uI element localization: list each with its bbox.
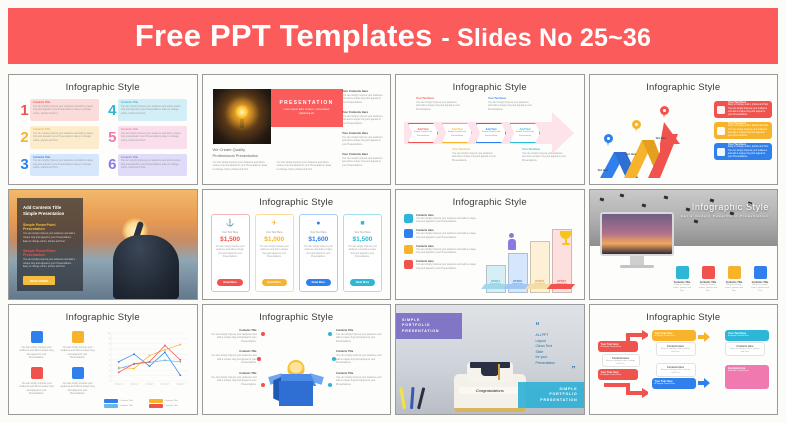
step-number: 4	[107, 99, 118, 121]
flow-node[interactable]: Your Text Here A Simple PowerPoint	[598, 369, 638, 380]
imac-foot	[620, 265, 654, 268]
caption-body: You can simply impress your audience and…	[522, 152, 566, 162]
slide-1-title: Infographic Style	[9, 82, 197, 93]
legend-label: Contents Title	[120, 400, 133, 402]
slide-thumbnail-8[interactable]: Infographic Style Get a modern PowerPoin…	[589, 189, 779, 300]
quote-block: “ ALLPPT Layout Clean Text Slide for you…	[536, 315, 576, 372]
card-body: You can simply impress your audience and…	[303, 246, 334, 276]
chat-icon: ●	[316, 220, 320, 227]
slide-thumbnail-4[interactable]: Infographic Style Text Here Text Here Te…	[589, 74, 779, 185]
person-figure-icon	[508, 233, 516, 251]
chat-icon	[754, 266, 767, 279]
imac-mockup	[600, 212, 674, 268]
caption-heading: Your Text Here	[452, 148, 496, 151]
item-heading: Contents Title	[211, 350, 257, 353]
list-item[interactable]: Your Contents Here You can simply impres…	[342, 131, 384, 146]
imac-screen	[600, 212, 674, 256]
pin-label: Text Here	[598, 169, 609, 172]
marker-dot	[328, 332, 332, 336]
legend-swatch	[149, 399, 163, 403]
slide-7-title: Infographic Style	[396, 197, 584, 208]
network-icon	[31, 331, 43, 343]
imac-neck	[630, 256, 644, 265]
arrow-right-icon	[698, 378, 710, 388]
banner-title-main: Free PPT Templates	[135, 18, 433, 53]
label-line-3: PRESENTATION	[540, 398, 577, 403]
lightbulb-photo	[213, 89, 271, 144]
pricing-card[interactable]: ■ Your Text Here $1,500 You can simply i…	[343, 214, 382, 292]
caption-heading: Your Text Here	[488, 97, 532, 100]
lead-line-2: Professional Presentation	[213, 153, 271, 159]
list-item[interactable]: 4 Contents Title You can simply impress …	[107, 99, 187, 121]
icon-body: You can simply impress your audience and…	[60, 382, 95, 396]
node-sub: A Simple PowerPoint	[601, 346, 635, 348]
feature-tiles: Contents Title Easy to change colors, ph…	[671, 266, 771, 293]
chart-legend: Contents Title Contents Title Contents T…	[104, 399, 190, 409]
step-body: You can simply impress your audience and…	[121, 132, 184, 142]
step-number: 6	[107, 154, 118, 176]
list-item[interactable]: Contents Title You can simply impress yo…	[336, 372, 382, 386]
legend-swatch	[149, 404, 163, 408]
card-subtitle: Your Text Here	[354, 231, 370, 234]
feature-tile[interactable]: Contents Title Easy to change colors, ph…	[723, 266, 745, 293]
slide-thumbnail-6[interactable]: Infographic Style ⚓ Your Text Here $1,50…	[202, 189, 392, 300]
step-number: 1	[19, 99, 30, 121]
node-sub: A Simple PowerPoint	[655, 383, 693, 385]
list-item[interactable]: Your Contents Here You can simply impres…	[342, 89, 384, 104]
clock-icon	[702, 266, 715, 279]
slide-6-title: Infographic Style	[203, 197, 391, 208]
quote-open-icon: “	[536, 321, 540, 330]
pricing-card[interactable]: ⚓ Your Text Here $1,500 You can simply i…	[211, 214, 250, 292]
slide-8-title: Infographic Style	[681, 202, 769, 212]
pricing-card[interactable]: ✈ Your Text Here $1,000 You can simply i…	[255, 214, 294, 292]
list-item[interactable]: 5 Contents Title You can simply impress …	[107, 126, 187, 148]
item-heading: Contents Title	[336, 372, 382, 375]
card-subtitle: Your Text Here	[310, 231, 326, 234]
slide-3-title: Infographic Style	[396, 82, 584, 93]
marker-dot	[261, 332, 265, 336]
slide-thumbnail-9[interactable]: Infographic Style You can simply impress…	[8, 304, 198, 415]
list-item[interactable]: Your Contents Here You can simply impres…	[342, 152, 384, 167]
rocket-icon: ✈	[271, 220, 277, 227]
slide-thumbnail-12[interactable]: Infographic Style Your Text Here A Simpl…	[589, 304, 779, 415]
callout-body: Easy to change colors, photos and Text. …	[728, 146, 769, 159]
pin-label: Text Here	[626, 153, 637, 156]
item-body: You can simply impress your audience and…	[342, 157, 384, 167]
step-blocks-graphic: STEP1 PowerPoint Presentation STEP2 Powe…	[482, 221, 578, 293]
feature-tile[interactable]: Contents Title Easy to change colors, ph…	[697, 266, 719, 293]
map-pin-icon	[660, 106, 669, 118]
item-body: You can simply impress your audience and…	[416, 232, 478, 239]
item-heading: Contents Title	[211, 329, 257, 332]
card-body: Easy to change colors, photos and Text.	[606, 360, 636, 366]
svg-text:Category 5: Category 5	[175, 383, 184, 386]
card-price: $1,600	[308, 236, 328, 243]
card-button[interactable]: Read More	[262, 279, 287, 286]
slide-thumbnail-5[interactable]: Add Contents Title Simple Presentation S…	[8, 189, 198, 300]
slide-thumbnail-1[interactable]: Infographic Style 1 Contents Title You c…	[8, 74, 198, 185]
slide-9-title: Infographic Style	[9, 312, 197, 323]
card-price: $1,500	[352, 236, 372, 243]
templates-preview-page: Free PPT Templates - Slides No 25~36 Inf…	[0, 0, 786, 423]
pencil-icon	[417, 387, 425, 409]
flow-node[interactable]: Your Text Here A Simple PowerPoint	[652, 330, 696, 341]
item-heading: Your Contents Here	[342, 152, 384, 156]
graduate-figure	[113, 235, 179, 299]
svg-text:7: 7	[108, 349, 109, 351]
chevron-steps: Add Text Simple PowerPoint Presentation …	[408, 123, 540, 143]
slide-thumbnail-3[interactable]: Infographic Style Add Text Simple PowerP…	[395, 74, 585, 185]
card-body: You can simply impress your audience and…	[215, 246, 246, 276]
legend-item: Contents Title	[104, 399, 145, 403]
svg-text:6: 6	[108, 354, 109, 356]
chevron-step[interactable]: Add Text Simple PowerPoint Presentation	[442, 123, 472, 143]
slide-thumbnail-10[interactable]: Infographic Style Contents Title You can…	[202, 304, 392, 415]
chevron-step[interactable]: Add Text Simple PowerPoint Presentation	[510, 123, 540, 143]
slide-thumbnail-7[interactable]: Infographic Style Contents Here You can …	[395, 189, 585, 300]
overlay-panel: Add Contents Title Simple Presentation S…	[17, 198, 83, 291]
flow-card[interactable]: Contents Here Easy to change colors, pho…	[725, 342, 765, 356]
step-bar: Contents Title You can simply impress yo…	[30, 154, 99, 176]
marker-dot	[257, 357, 261, 361]
presentation-panel: PRESENTATION Lorem ipsum dolor sit amet,…	[271, 89, 343, 127]
svg-text:3: 3	[108, 370, 109, 372]
icon-cell[interactable]: You can simply impress your audience and…	[60, 367, 95, 396]
section-1-heading: Simple PowerPoint Presentation	[23, 223, 77, 231]
item-heading: Contents Title	[211, 372, 257, 375]
list-item[interactable]: Contents Here You can simply impress you…	[404, 260, 478, 270]
node-sub: A Simple PowerPoint	[655, 335, 693, 337]
camera-icon: ■	[360, 220, 364, 227]
caption: Your Text Here You can simply impress yo…	[488, 97, 532, 111]
numbered-bar-list: 1 Contents Title You can simply impress …	[19, 99, 187, 176]
list-item[interactable]: Contents Title You can simply impress yo…	[336, 329, 382, 343]
pricing-card[interactable]: ● Your Text Here $1,600 You can simply i…	[299, 214, 338, 292]
step-body: You can simply impress your audience and…	[121, 159, 184, 169]
pricing-card-row: ⚓ Your Text Here $1,500 You can simply i…	[211, 214, 383, 292]
item-heading: Your Contents Here	[342, 110, 384, 114]
section-2-body: You can simply impress your audience and…	[23, 258, 77, 269]
flow-node[interactable]: Your Text Here A Simple PowerPoint	[725, 330, 769, 341]
svg-text:Category 2: Category 2	[129, 383, 138, 386]
svg-text:2: 2	[108, 375, 109, 377]
map-pin-icon	[632, 120, 641, 132]
item-body: You can simply impress your audience and…	[211, 376, 257, 386]
slide-thumbnail-11[interactable]: Congratulations SIMPLE PORTFOLIO PRESENT…	[395, 304, 585, 415]
svg-text:Category 1: Category 1	[114, 383, 123, 386]
lightbulb-icon	[234, 105, 249, 120]
step-bar: Contents Title You can simply impress yo…	[118, 126, 187, 148]
svg-text:Category 3: Category 3	[145, 383, 154, 386]
list-item[interactable]: Contents Here You can simply impress you…	[404, 229, 478, 239]
quote-close-icon: ”	[536, 367, 576, 373]
section-1-body: You can simply impress your audience and…	[23, 232, 77, 243]
item-body: You can simply impress your audience and…	[416, 263, 478, 270]
flow-card[interactable]: Contents Here Easy to change colors, pho…	[656, 363, 696, 377]
right-content-list: Your Contents Here You can simply impres…	[342, 89, 384, 173]
step-number: 3	[19, 154, 30, 176]
list-item[interactable]: 1 Contents Title You can simply impress …	[19, 99, 99, 121]
callout-body: Easy to change colors, photos and Text. …	[728, 125, 769, 138]
banner-title-group: Infographic Style Get a modern PowerPoin…	[681, 202, 769, 218]
icon-cell[interactable]: You can simply impress your audience and…	[60, 331, 95, 360]
list-item[interactable]: Contents Here You can simply impress you…	[404, 214, 478, 224]
card-subtitle: Your Text Here	[222, 231, 238, 234]
callout-body: Easy to change colors, photos and Text. …	[728, 104, 769, 117]
cap-tassel	[498, 364, 500, 380]
line-chart: 10987654321Category 1Category 2Category …	[104, 331, 190, 389]
rising-arrows-graphic	[598, 118, 688, 180]
pin-label: Text Here	[656, 137, 667, 140]
panel-title-line-2: Simple Presentation	[23, 211, 77, 217]
item-body: You can simply impress your audience and…	[416, 217, 478, 224]
card-button[interactable]: Read More	[217, 279, 242, 286]
alert-icon	[72, 331, 84, 343]
caption: Your Text Here You can simply impress yo…	[522, 148, 566, 162]
flow-card[interactable]: Contents Here Easy to change colors, pho…	[602, 354, 640, 367]
caption-body: You can simply impress your audience and…	[452, 152, 496, 162]
item-body: You can simply impress your audience and…	[342, 94, 384, 104]
step-bar: Contents Title You can simply impress yo…	[30, 126, 99, 148]
list-item[interactable]: Contents Here You can simply impress you…	[404, 245, 478, 255]
slide-grid: Infographic Style 1 Contents Title You c…	[8, 74, 778, 415]
briefcase-icon	[717, 106, 725, 114]
item-body: You can simply impress your audience and…	[211, 354, 257, 364]
list-item[interactable]: Contents Title You can simply impress yo…	[336, 350, 382, 364]
caption-heading: Your Text Here	[522, 148, 566, 151]
icon-content-list: Contents Here You can simply impress you…	[404, 214, 478, 276]
card-subtitle: Your Text Here	[266, 231, 282, 234]
callout-card[interactable]: Your Text Here Easy to change colors, ph…	[714, 122, 772, 139]
banner-title-sub: - Slides No 25~36	[441, 24, 651, 52]
tile-body: Easy to change colors, photos and Text.	[723, 284, 745, 293]
list-item[interactable]: Contents Title You can simply impress yo…	[211, 372, 257, 386]
feature-tile[interactable]: Contents Title Easy to change colors, ph…	[749, 266, 771, 293]
list-item[interactable]: 2 Contents Title You can simply impress …	[19, 126, 99, 148]
card-body: Easy to change colors, photos and Text.	[660, 369, 692, 375]
lightbulb-stem	[240, 119, 244, 128]
arrow-right-icon	[698, 332, 710, 342]
slide-12-title: Infographic Style	[590, 312, 778, 323]
presentation-panel-title: PRESENTATION	[279, 100, 333, 106]
lead-text: We Create Quality Professional Presentat…	[213, 147, 271, 159]
step-number: 5	[107, 126, 118, 148]
anchor-icon: ⚓	[226, 220, 235, 227]
svg-text:10: 10	[107, 333, 109, 335]
paragraph-1: You can simply impress your audience and…	[213, 161, 269, 171]
legend-label: Contents Title	[165, 405, 178, 407]
tile-body: Easy to change colors, photos and Text.	[671, 284, 693, 293]
svg-text:5: 5	[108, 359, 109, 361]
step-body: You can simply impress your audience and…	[33, 159, 96, 169]
icon-cell[interactable]: You can simply impress your audience and…	[19, 331, 54, 360]
callout-card[interactable]: Your Text Here Easy to change colors, ph…	[714, 143, 772, 160]
step-body: You can simply impress your audience and…	[33, 105, 96, 115]
step-bar: Contents Title You can simply impress yo…	[118, 99, 187, 121]
pens-group	[401, 383, 427, 409]
card-price: $1,000	[264, 236, 284, 243]
item-body: You can simply impress your audience and…	[342, 136, 384, 146]
list-item[interactable]: 6 Contents Title You can simply impress …	[107, 154, 187, 176]
item-body: You can simply impress your audience and…	[336, 333, 382, 343]
card-body: Easy to change colors, photos and Text.	[729, 348, 761, 354]
legend-swatch	[104, 399, 118, 403]
callout-card[interactable]: Your Text Here Easy to change colors, ph…	[714, 101, 772, 118]
tile-body: Easy to change colors, photos and Text.	[749, 284, 771, 293]
caption: Your Text Here You can simply impress yo…	[452, 148, 496, 162]
slide-thumbnail-2[interactable]: PRESENTATION Lorem ipsum dolor sit amet,…	[202, 74, 392, 185]
node-sub: A Simple PowerPoint	[728, 370, 766, 372]
item-body: You can simply impress your audience and…	[336, 376, 382, 386]
bottom-right-label: SIMPLE PORTFOLIO PRESENTATION	[518, 382, 584, 408]
item-body: You can simply impress your audience and…	[342, 115, 384, 125]
caption: Your Text Here You can simply impress yo…	[416, 97, 460, 111]
svg-text:Category 4: Category 4	[160, 383, 169, 386]
flow-node[interactable]: Your Text Here A Simple PowerPoint	[598, 341, 638, 352]
caption-heading: Your Text Here	[416, 97, 460, 100]
flow-card[interactable]: Contents Here Easy to change colors, pho…	[656, 342, 696, 356]
box-front	[279, 381, 313, 406]
slide-4-title: Infographic Style	[590, 82, 778, 93]
banner-title: Free PPT Templates - Slides No 25~36	[135, 18, 651, 54]
tile-body: Easy to change colors, photos and Text.	[697, 284, 719, 293]
marker-dot	[328, 383, 332, 387]
legend-item: Contents Title	[149, 399, 190, 403]
marker-dot	[261, 383, 265, 387]
step-body: Simple PowerPoint Presentation	[443, 131, 471, 137]
card-body: Easy to change colors, photos and Text.	[660, 348, 692, 354]
step-body: Simple PowerPoint Presentation	[409, 131, 437, 137]
item-heading: Your Contents Here	[342, 131, 384, 135]
legend-label: Contents Title	[120, 405, 133, 407]
chat-icon	[72, 367, 84, 379]
list-item[interactable]: Contents Title You can simply impress yo…	[211, 350, 257, 364]
link-icon	[404, 245, 413, 254]
step-body: You can simply impress your audience and…	[33, 132, 96, 142]
highlighter-icon	[399, 387, 406, 409]
cake-text: Congratulations	[476, 388, 504, 393]
gear-icon	[404, 214, 413, 223]
header-banner: Free PPT Templates - Slides No 25~36	[8, 8, 778, 64]
legend-swatch	[104, 404, 118, 408]
legend-item: Contents Title	[149, 404, 190, 408]
list-item[interactable]: 3 Contents Title You can simply impress …	[19, 154, 99, 176]
map-pin-icon	[604, 134, 613, 146]
icon-body: You can simply impress your audience and…	[19, 346, 54, 360]
caption-body: You can simply impress your audience and…	[416, 101, 460, 111]
marker-dot	[332, 357, 336, 361]
chevron-step[interactable]: Add Text Simple PowerPoint Presentation	[408, 123, 438, 143]
item-heading: Contents Title	[336, 350, 382, 353]
right-content-column: Contents Title You can simply impress yo…	[336, 329, 382, 393]
list-item[interactable]: Contents Title You can simply impress yo…	[211, 329, 257, 343]
scissors-icon	[404, 260, 413, 269]
card-price: $1,500	[220, 236, 240, 243]
flow-node[interactable]: Contents Here A Simple PowerPoint	[725, 365, 769, 389]
step-block[interactable]: STEP2 PowerPoint Presentation	[508, 253, 528, 293]
left-content-column: Contents Title You can simply impress yo…	[211, 329, 257, 393]
legend-label: Contents Title	[165, 400, 178, 402]
chevron-step[interactable]: Add Text Simple PowerPoint Presentation	[476, 123, 506, 143]
target-icon	[31, 367, 43, 379]
node-sub: A Simple PowerPoint	[601, 374, 635, 376]
step-block[interactable]: STEP3 PowerPoint Presentation	[530, 241, 550, 293]
graduation-cap-icon	[470, 362, 510, 368]
block-top	[546, 284, 574, 289]
paragraph-2: You can simply impress your audience and…	[277, 161, 333, 171]
step-number: 2	[19, 126, 30, 148]
graduation-cake-photo: Congratulations	[454, 354, 526, 412]
icon-body: You can simply impress your audience and…	[60, 346, 95, 360]
top-left-label: SIMPLE PORTFOLIO PRESENTATION	[396, 313, 462, 339]
arrows-svg	[598, 118, 688, 180]
icon-body: You can simply impress your audience and…	[19, 382, 54, 396]
svg-text:8: 8	[108, 343, 109, 345]
card-body: You can simply impress your audience and…	[347, 246, 378, 276]
step-body: You can simply impress your audience and…	[121, 105, 184, 115]
slide-8-subtitle: Get a modern PowerPoint Presentation	[681, 214, 769, 218]
megaphone-icon	[717, 127, 725, 135]
step-body: Simple PowerPoint Presentation	[477, 131, 505, 137]
list-icon	[728, 266, 741, 279]
item-body: You can simply impress your audience and…	[211, 333, 257, 343]
pen-icon	[410, 387, 415, 409]
card-body: You can simply impress your audience and…	[259, 246, 290, 276]
legend-item: Contents Title	[104, 404, 145, 408]
flow-node[interactable]: Your Text Here A Simple PowerPoint	[652, 378, 696, 389]
step-bar: Contents Title You can simply impress yo…	[30, 99, 99, 121]
node-sub: A Simple PowerPoint	[728, 335, 766, 337]
section-2-heading: Simple PowerPoint Presentation	[23, 249, 77, 257]
document-icon	[404, 229, 413, 238]
card-button[interactable]: Read More	[306, 279, 331, 286]
slide-10-title: Infographic Style	[203, 312, 391, 323]
icon-grid: You can simply impress your audience and…	[19, 331, 95, 396]
item-heading: Contents Title	[336, 329, 382, 332]
trophy-icon	[560, 231, 572, 247]
item-body: You can simply impress your audience and…	[416, 248, 478, 255]
idea-box-graphic	[273, 366, 319, 406]
recycle-icon	[676, 266, 689, 279]
svg-text:1: 1	[108, 381, 109, 383]
list-item[interactable]: Your Contents Here You can simply impres…	[342, 110, 384, 125]
svg-text:9: 9	[108, 338, 109, 340]
presentation-panel-body: Lorem ipsum dolor sit amet, consectetuer…	[284, 108, 330, 116]
step-body: Simple PowerPoint Presentation	[511, 131, 539, 137]
label-line-3: PRESENTATION	[402, 329, 462, 334]
feature-tile[interactable]: Contents Title Easy to change colors, ph…	[671, 266, 693, 293]
chat-icon	[717, 148, 725, 156]
card-button[interactable]: Read More	[350, 279, 375, 286]
cake-ribbon: Congratulations	[459, 387, 521, 394]
icon-cell[interactable]: You can simply impress your audience and…	[19, 367, 54, 396]
read-more-button[interactable]: READ MORE	[23, 276, 55, 285]
caption-body: You can simply impress your audience and…	[488, 101, 532, 111]
step-bar: Contents Title You can simply impress yo…	[118, 154, 187, 176]
item-heading: Your Contents Here	[342, 89, 384, 93]
brain-icon	[290, 362, 303, 373]
item-body: You can simply impress your audience and…	[336, 354, 382, 364]
svg-text:4: 4	[108, 365, 109, 367]
